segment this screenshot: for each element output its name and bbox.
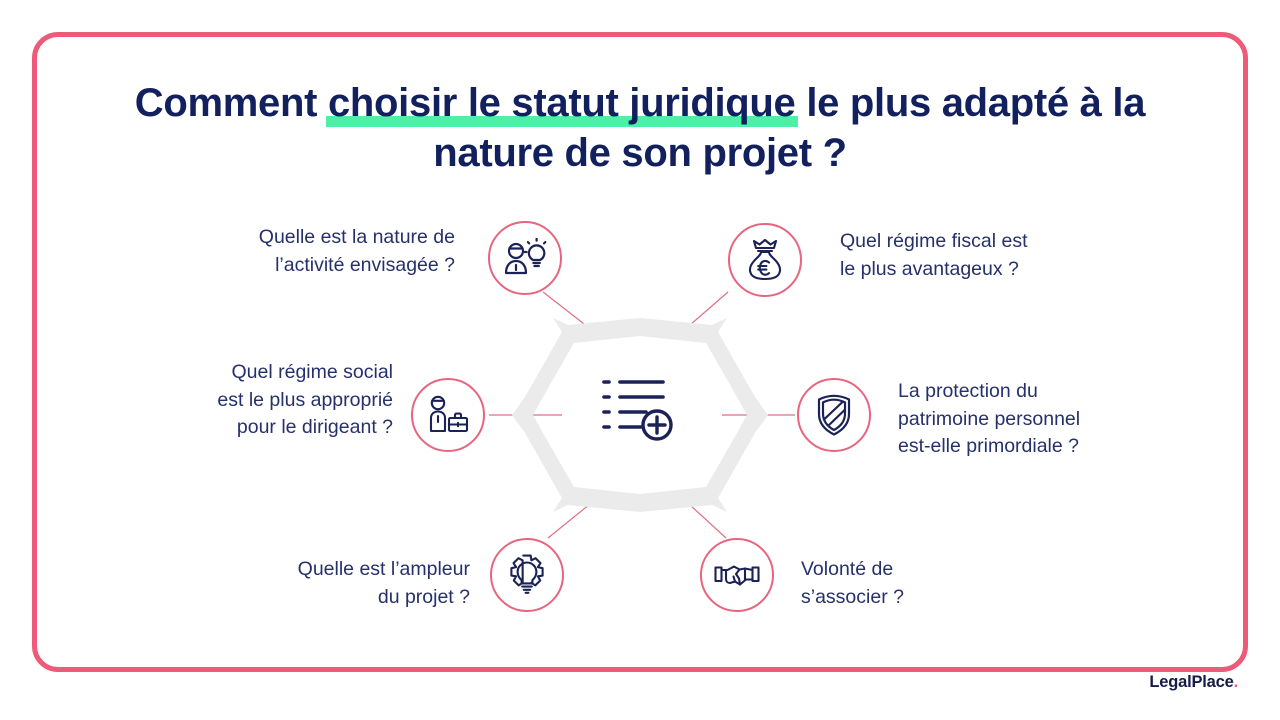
shield-icon xyxy=(815,394,853,436)
node-volonte-associer[interactable] xyxy=(700,538,774,612)
page-title: Comment choisir le statut juridique le p… xyxy=(90,78,1190,178)
infographic-canvas: Comment choisir le statut juridique le p… xyxy=(0,0,1280,720)
list-plus-icon xyxy=(601,373,679,445)
label-protection-patrimoine: La protection du patrimoine personnel es… xyxy=(898,378,1158,461)
label-nature-activite: Quelle est la nature de l’activité envis… xyxy=(170,224,455,279)
gear-lightbulb-icon xyxy=(505,553,549,597)
brand-logo-name: LegalPlace xyxy=(1149,673,1233,691)
title-highlight: choisir le statut juridique xyxy=(328,78,796,128)
person-briefcase-icon xyxy=(426,395,470,435)
brand-logo: LegalPlace. xyxy=(1149,673,1238,692)
node-regime-fiscal[interactable] xyxy=(728,223,802,297)
node-protection-patrimoine[interactable] xyxy=(797,378,871,452)
label-ampleur-projet: Quelle est l’ampleur du projet ? xyxy=(215,556,470,611)
label-volonte-associer: Volonté de s’associer ? xyxy=(801,556,1031,611)
handshake-icon xyxy=(714,559,760,591)
node-regime-social[interactable] xyxy=(411,378,485,452)
node-ampleur-projet[interactable] xyxy=(490,538,564,612)
person-lightbulb-icon xyxy=(503,238,547,278)
money-bag-euro-icon xyxy=(745,239,785,281)
label-regime-social: Quel régime social est le plus approprié… xyxy=(140,359,393,442)
label-regime-fiscal: Quel régime fiscal est le plus avantageu… xyxy=(840,228,1140,283)
node-nature-activite[interactable] xyxy=(488,221,562,295)
title-prefix: Comment xyxy=(135,81,328,125)
brand-logo-dot: . xyxy=(1234,673,1238,691)
